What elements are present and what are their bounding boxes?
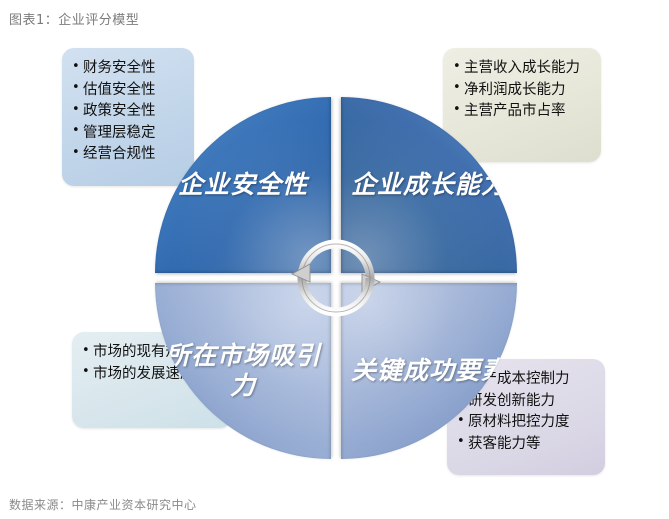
list-item: 主营收入成长能力 [453,58,589,79]
source-note: 数据来源：中康产业资本研究中心 [9,496,197,513]
quadrant-label-security: 企业安全性 [172,170,314,201]
quadrant-label-market: 所在市场吸引力 [155,341,331,402]
page-title: 图表1：企业评分模型 [9,9,139,28]
quadrant-growth[interactable]: 企业成长能力 [341,97,517,273]
quadrant-label-growth: 企业成长能力 [345,170,513,201]
quadrant-success[interactable]: 关键成功要素 [341,283,517,459]
quadrant-wheel: 企业安全性 企业成长能力 所在市场吸引力 关键成功要素 [155,97,517,459]
list-item: 财务安全性 [72,58,182,79]
diagram-canvas: 财务安全性 估值安全性 政策安全性 管理层稳定 经营合规性 主营收入成长能力 净… [0,30,669,488]
quadrant-market[interactable]: 所在市场吸引力 [155,283,331,459]
quadrant-security[interactable]: 企业安全性 [155,97,331,273]
quadrant-label-success: 关键成功要素 [345,356,513,387]
